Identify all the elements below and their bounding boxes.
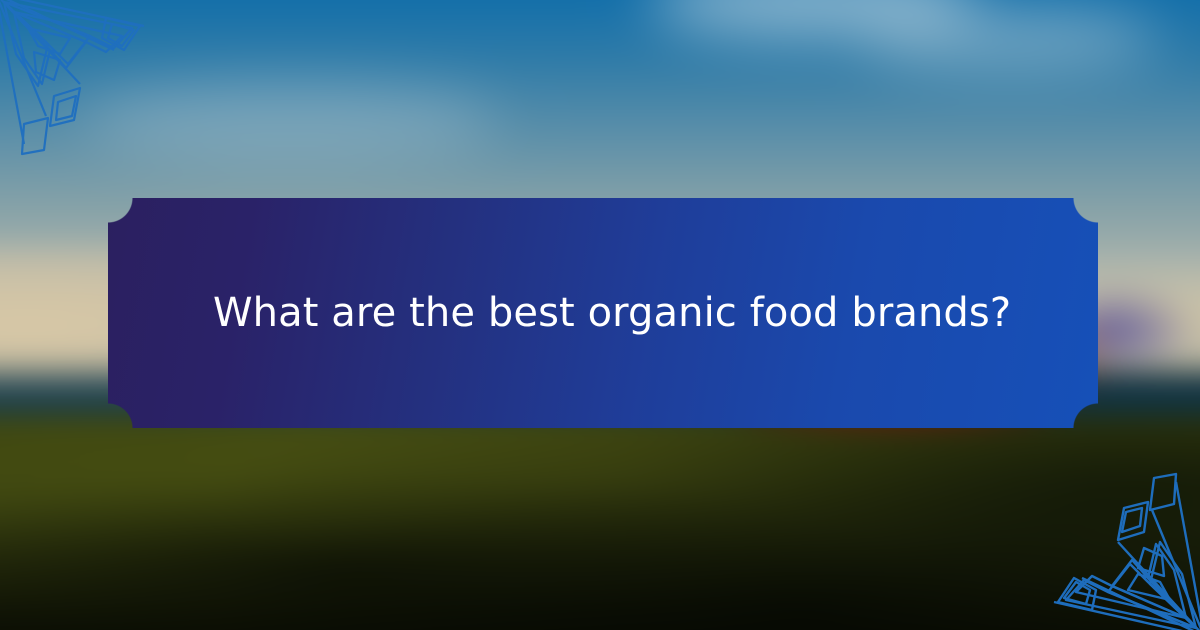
cloud-shape (860, 8, 1160, 68)
question-card-banner: What are the best organic food brands? (0, 0, 1200, 630)
cloud-shape (80, 80, 500, 160)
question-title: What are the best organic food brands? (108, 289, 1011, 337)
bottom-vignette (0, 520, 1200, 630)
question-card: What are the best organic food brands? (108, 198, 1098, 428)
